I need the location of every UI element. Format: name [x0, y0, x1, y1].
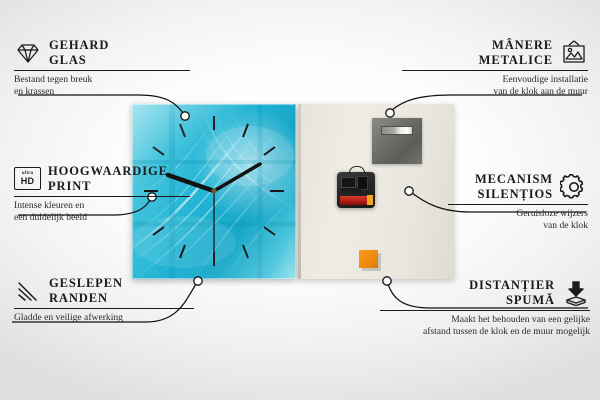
clock-back-panel — [298, 104, 454, 279]
feature-subtitle-line: van de klok — [448, 220, 588, 232]
ultra-hd-large-label: HD — [21, 177, 34, 186]
picture-hanger-icon — [560, 40, 588, 66]
feature-title-line: METALICE — [479, 53, 553, 68]
feature-titles: GESLEPEN RANDEN — [49, 276, 123, 305]
battery-terminal — [367, 195, 373, 205]
feature-manere-metalice: MÂNERE METALICE Eenvoudige installatie v… — [402, 38, 588, 99]
feature-title-line: MÂNERE — [492, 38, 553, 53]
feature-rule — [380, 310, 590, 311]
ultra-hd-icon: ultra HD — [14, 167, 41, 190]
mechanism-hanging-loop — [349, 166, 365, 175]
feature-title-line: MECANISM — [475, 172, 553, 187]
feature-rule — [14, 196, 190, 197]
feature-rule — [402, 70, 588, 71]
feature-distantier-spuma: DISTANȚIER SPUMĂ Maakt het behouden van … — [380, 278, 590, 339]
feature-subtitle-line: Bestand tegen breuk — [14, 74, 190, 86]
feature-gehard-glas: GEHARD GLAS Bestand tegen breuk en krass… — [14, 38, 190, 99]
feature-title-line: GLAS — [49, 53, 87, 68]
feature-title-line: RANDEN — [49, 291, 108, 306]
feature-header: MÂNERE METALICE — [402, 38, 588, 67]
feature-mecanism-silentios: MECANISM SILENȚIOS Geruisloze wijzers va… — [448, 172, 588, 233]
feature-titles: HOOGWAARDIGE PRINT — [48, 164, 168, 193]
infographic-canvas: GEHARD GLAS Bestand tegen breuk en krass… — [0, 0, 600, 400]
feature-subtitle-line: Geruisloze wijzers — [448, 208, 588, 220]
feature-title-line: SILENȚIOS — [478, 187, 554, 202]
feature-subtitle-line: en krassen — [14, 86, 190, 98]
spacer-arrow-icon — [562, 280, 590, 306]
feature-titles: GEHARD GLAS — [49, 38, 109, 67]
gear-icon — [560, 174, 588, 200]
feature-header: DISTANȚIER SPUMĂ — [380, 278, 590, 307]
feature-rule — [14, 70, 190, 71]
feature-geslepen-randen: GESLEPEN RANDEN Gladde en veilige afwerk… — [14, 276, 194, 324]
feature-subtitle-line: Intense kleuren en — [14, 200, 190, 212]
metal-hanger-plate — [372, 118, 422, 164]
feature-subtitle-line: Eenvoudige installatie — [402, 74, 588, 86]
feature-rule — [14, 308, 194, 309]
feature-title-line: DISTANȚIER — [469, 278, 555, 293]
mechanism-detail-a — [341, 177, 356, 188]
feature-subtitle-line: Maakt het behouden van een gelijke — [380, 314, 590, 326]
hanger-slot — [381, 126, 413, 135]
feature-title-line: PRINT — [48, 179, 91, 194]
beveled-edge-icon — [14, 279, 42, 303]
feature-subtitle-line: een duidelijk beeld — [14, 212, 190, 224]
feature-header: MECANISM SILENȚIOS — [448, 172, 588, 201]
feature-title-line: HOOGWAARDIGE — [48, 164, 168, 179]
feature-title-line: GEHARD — [49, 38, 109, 53]
feature-header: GEHARD GLAS — [14, 38, 190, 67]
feature-titles: DISTANȚIER SPUMĂ — [469, 278, 555, 307]
feature-hoogwaardige-print: ultra HD HOOGWAARDIGE PRINT Intense kleu… — [14, 164, 190, 225]
feature-header: ultra HD HOOGWAARDIGE PRINT — [14, 164, 190, 193]
orange-foam-spacer — [359, 250, 378, 268]
feature-header: GESLEPEN RANDEN — [14, 276, 194, 305]
mechanism-detail-c — [341, 188, 361, 193]
feature-title-line: SPUMĂ — [506, 293, 555, 308]
diamond-icon — [14, 41, 42, 65]
feature-subtitle-line: Gladde en veilige afwerking — [14, 312, 194, 324]
feature-subtitle-line: afstand tussen de klok en de muur mogeli… — [380, 326, 590, 338]
quartz-clock-mechanism — [337, 172, 375, 208]
feature-subtitle-line: van de klok aan de muur — [402, 86, 588, 98]
feature-titles: MECANISM SILENȚIOS — [475, 172, 553, 201]
panel-edge — [298, 104, 301, 279]
feature-rule — [448, 204, 588, 205]
feature-title-line: GESLEPEN — [49, 276, 123, 291]
aa-battery — [340, 196, 371, 205]
feature-titles: MÂNERE METALICE — [479, 38, 553, 67]
